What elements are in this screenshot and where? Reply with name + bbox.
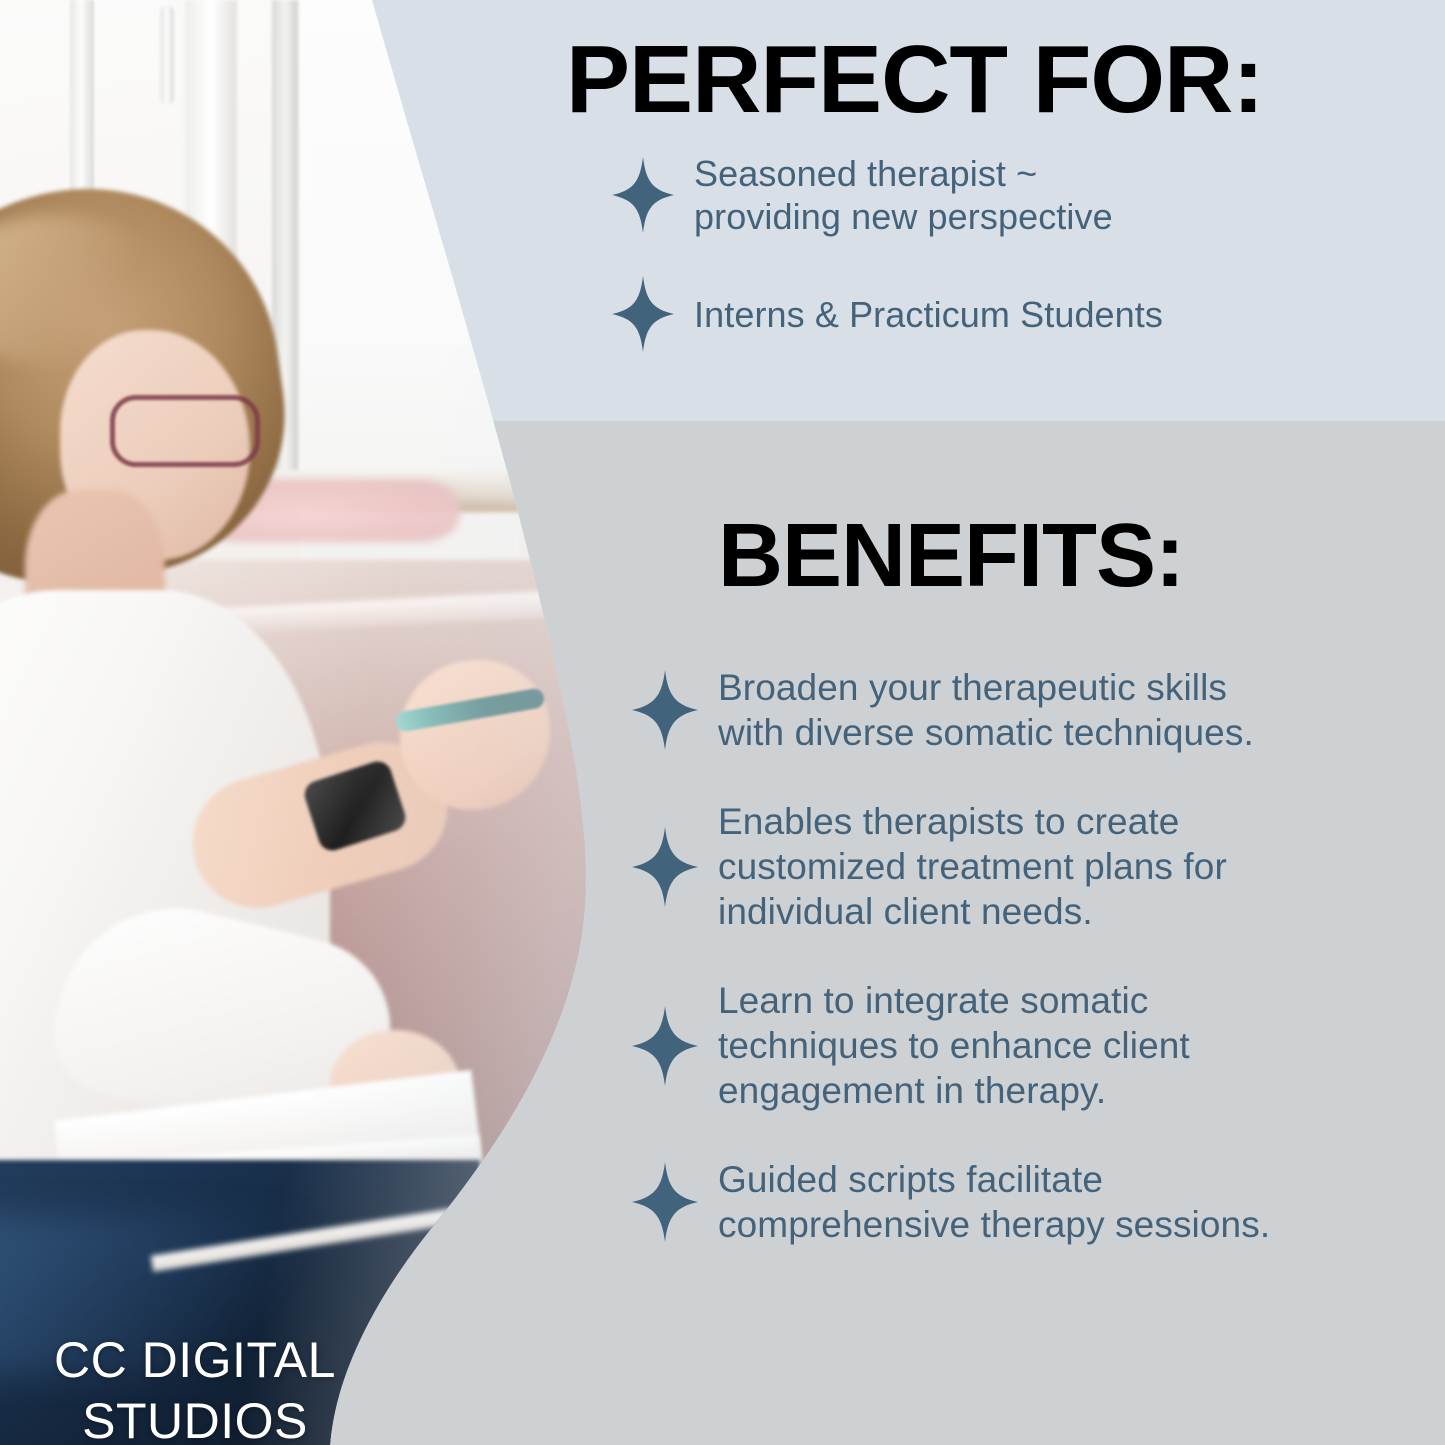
list-item-line: Enables therapists to create xyxy=(718,799,1227,844)
list-item-label: Interns & Practicum Students xyxy=(694,293,1163,336)
list-item-label: Learn to integrate somatic techniques to… xyxy=(718,978,1190,1113)
list-item-line: providing new perspective xyxy=(694,195,1113,238)
list-item-label: Seasoned therapist ~ providing new persp… xyxy=(694,152,1113,238)
perfect-for-bullet-list: Seasoned therapist ~ providing new persp… xyxy=(612,152,1372,390)
brand-line-2: STUDIOS xyxy=(30,1391,360,1445)
list-item: Broaden your therapeutic skills with div… xyxy=(632,665,1432,755)
brand-watermark: CC DIGITAL STUDIOS xyxy=(30,1330,360,1445)
list-item-label: Broaden your therapeutic skills with div… xyxy=(718,665,1254,755)
list-item-line: Broaden your therapeutic skills xyxy=(718,665,1254,710)
list-item-label: Enables therapists to create customized … xyxy=(718,799,1227,934)
list-item-line: Learn to integrate somatic xyxy=(718,978,1190,1023)
list-item-line: comprehensive therapy sessions. xyxy=(718,1202,1270,1247)
benefits-heading: BENEFITS: xyxy=(718,507,1184,605)
perfect-for-heading: PERFECT FOR: xyxy=(566,28,1263,132)
list-item-line: individual client needs. xyxy=(718,889,1227,934)
four-point-star-icon xyxy=(632,1162,698,1242)
photo-panel xyxy=(0,0,640,1445)
therapist-photo-image xyxy=(0,0,640,1445)
list-item-line: engagement in therapy. xyxy=(718,1068,1190,1113)
photo-haze-overlay xyxy=(0,0,640,1445)
poster-canvas: PERFECT FOR: Seasoned therapist ~ provid… xyxy=(0,0,1445,1445)
list-item-line: techniques to enhance client xyxy=(718,1023,1190,1068)
brand-line-1: CC DIGITAL xyxy=(30,1330,360,1391)
four-point-star-icon xyxy=(632,670,698,750)
list-item-line: customized treatment plans for xyxy=(718,844,1227,889)
list-item-line: Interns & Practicum Students xyxy=(694,293,1163,336)
list-item-line: Guided scripts facilitate xyxy=(718,1157,1270,1202)
list-item: Enables therapists to create customized … xyxy=(632,799,1432,934)
list-item: Learn to integrate somatic techniques to… xyxy=(632,978,1432,1113)
four-point-star-icon xyxy=(632,827,698,907)
list-item: Interns & Practicum Students xyxy=(612,276,1372,352)
four-point-star-icon xyxy=(612,157,674,233)
list-item: Seasoned therapist ~ providing new persp… xyxy=(612,152,1372,238)
list-item-line: Seasoned therapist ~ xyxy=(694,152,1113,195)
four-point-star-icon xyxy=(612,276,674,352)
list-item: Guided scripts facilitate comprehensive … xyxy=(632,1157,1432,1247)
four-point-star-icon xyxy=(632,1006,698,1086)
list-item-line: with diverse somatic techniques. xyxy=(718,710,1254,755)
benefits-bullet-list: Broaden your therapeutic skills with div… xyxy=(632,665,1432,1291)
list-item-label: Guided scripts facilitate comprehensive … xyxy=(718,1157,1270,1247)
